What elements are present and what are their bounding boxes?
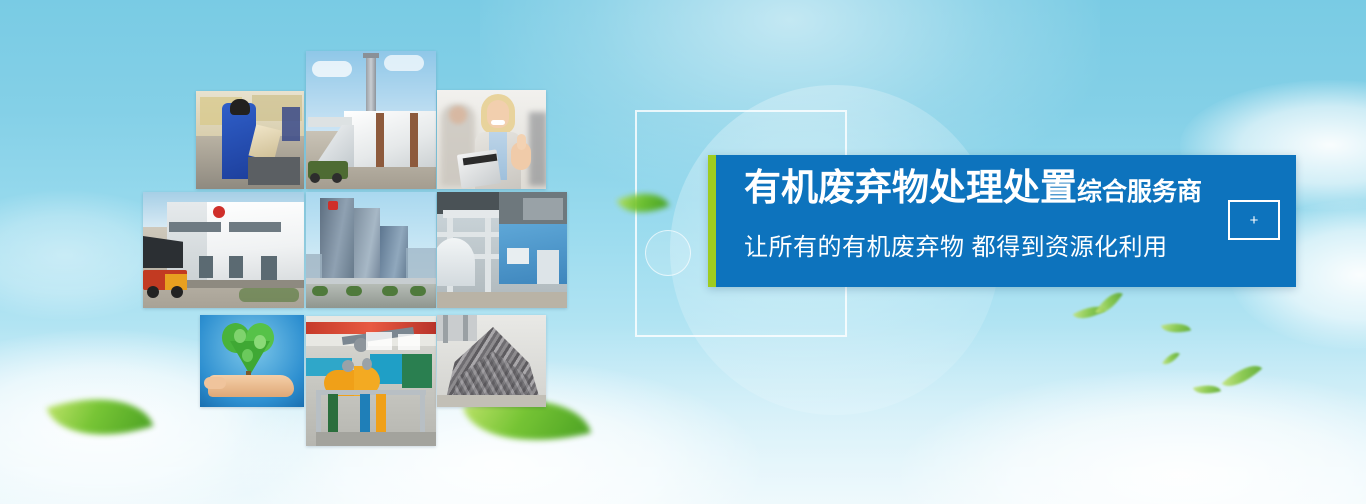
cloud-right-low xyxy=(900,370,1366,504)
plus-icon: + xyxy=(1250,213,1259,228)
photo-plant-warehouse-truck xyxy=(143,192,304,308)
subheadline-text: 让所有的有机废弃物 都得到资源化利用 xyxy=(744,227,1168,262)
photo-worker-pouring-bag xyxy=(196,91,304,189)
accent-stripe xyxy=(708,155,716,287)
photo-office-towers xyxy=(306,192,436,308)
photo-industrial-piping-plant xyxy=(437,192,567,308)
headline: 有机废弃物处理处置综合服务商 xyxy=(744,169,1202,206)
leaf-right-2-icon xyxy=(1095,287,1123,320)
decor-small-circle xyxy=(645,230,691,276)
hero-banner: 有机废弃物处理处置综合服务商 让所有的有机废弃物 都得到资源化利用 + xyxy=(0,0,1366,504)
photo-businesswoman-thumbs-up xyxy=(437,90,546,189)
plus-button[interactable]: + xyxy=(1228,200,1280,240)
banner-body: 有机废弃物处理处置综合服务商 让所有的有机废弃物 都得到资源化利用 + xyxy=(716,155,1296,287)
leaf-right-1-icon xyxy=(1073,299,1105,325)
photo-processing-machinery xyxy=(306,316,436,446)
leaf-frame-left-icon xyxy=(617,182,670,224)
headline-banner-bar: 有机废弃物处理处置综合服务商 让所有的有机废弃物 都得到资源化利用 + xyxy=(708,155,1296,287)
photo-gray-aggregate-pile xyxy=(437,315,546,407)
leaf-right-6-icon xyxy=(1222,357,1262,396)
headline-suffix-text: 综合服务商 xyxy=(1077,178,1202,206)
leaf-right-3-icon xyxy=(1161,319,1191,337)
leaf-bottom-left-icon xyxy=(47,378,154,455)
headline-main-text: 有机废弃物处理处置 xyxy=(744,167,1077,208)
photo-hand-holding-leaf-heart xyxy=(200,315,304,407)
photo-factory-stack-building xyxy=(306,51,436,189)
leaf-right-4-icon xyxy=(1162,349,1180,369)
leaf-right-5-icon xyxy=(1193,381,1221,399)
